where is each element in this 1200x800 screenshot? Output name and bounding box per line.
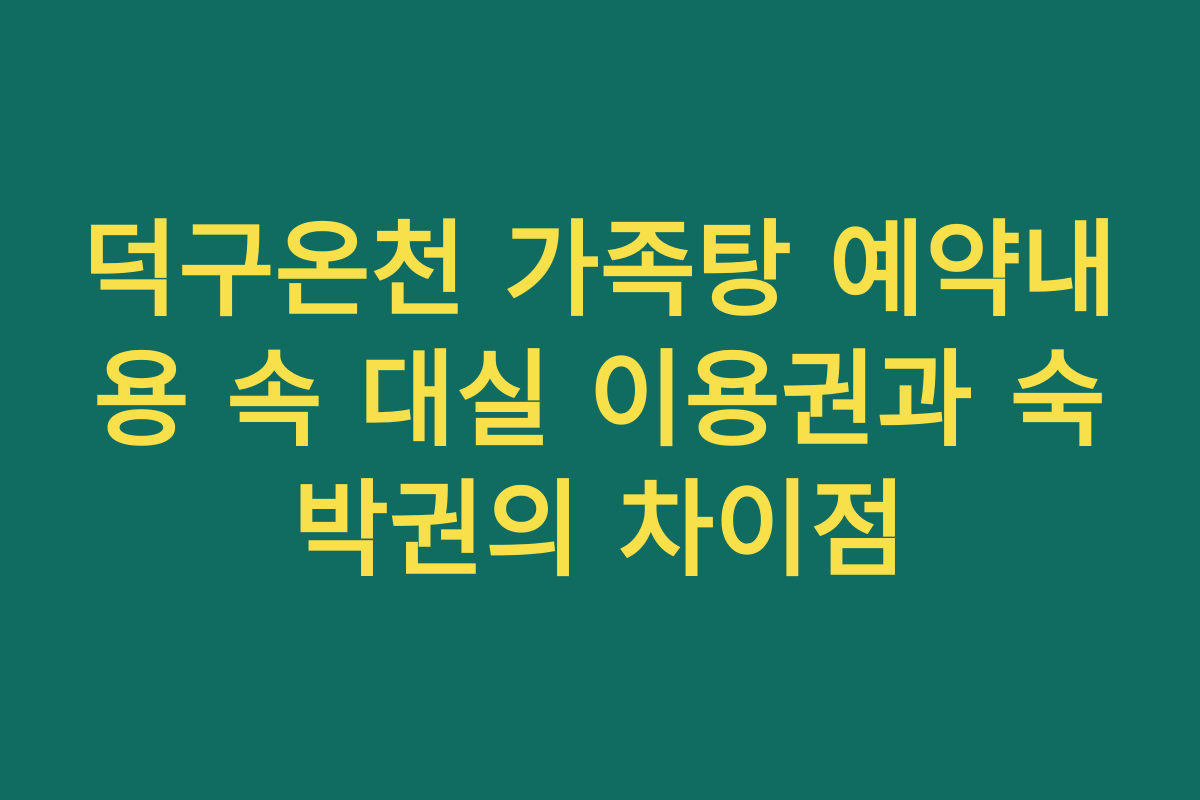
headline-text: 덕구온천 가족탕 예약내 용 속 대실 이용권과 숙 박권의 차이점 [70, 205, 1130, 595]
title-card: 덕구온천 가족탕 예약내 용 속 대실 이용권과 숙 박권의 차이점 [0, 0, 1200, 800]
headline-line-1: 덕구온천 가족탕 예약내 [70, 205, 1130, 335]
headline-line-3: 박권의 차이점 [70, 465, 1130, 595]
headline-line-2: 용 속 대실 이용권과 숙 [70, 335, 1130, 465]
